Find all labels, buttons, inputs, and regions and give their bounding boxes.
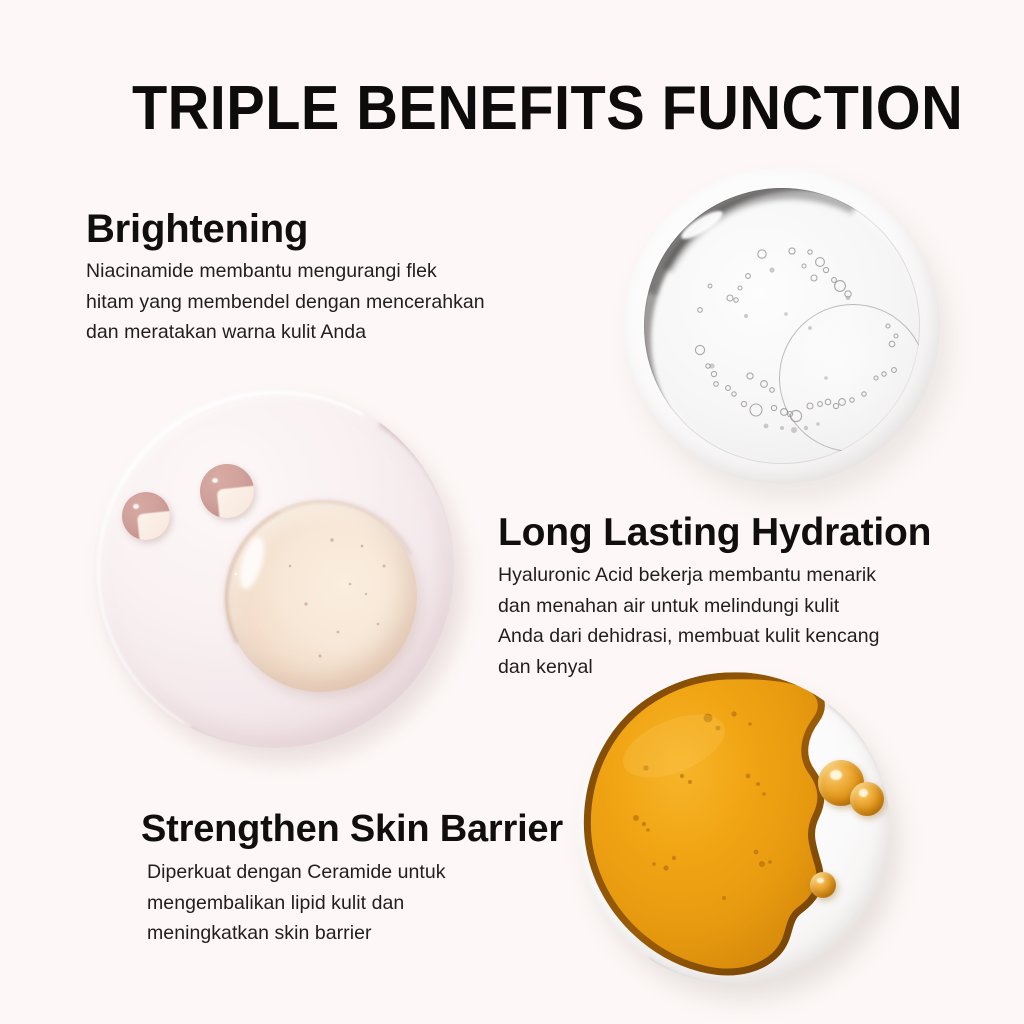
- benefit-heading-brightening: Brightening: [86, 206, 485, 252]
- benefit-block-hydration: Long Lasting Hydration Hyaluronic Acid b…: [498, 510, 931, 682]
- body-line: Hyaluronic Acid bekerja membantu menarik: [498, 560, 931, 591]
- body-line: dan menahan air untuk melindungi kulit: [498, 591, 931, 622]
- droplet-specular-highlight: [133, 504, 139, 509]
- body-line: dan meratakan warna kulit Anda: [86, 317, 485, 348]
- clear-gel-swatch: [624, 168, 940, 484]
- benefit-body-barrier: Diperkuat dengan Ceramide untuk mengemba…: [147, 857, 563, 949]
- body-line: Diperkuat dengan Ceramide untuk: [147, 857, 563, 888]
- oil-droplet-medium: [850, 782, 884, 816]
- petri-dish-inner-clear: [644, 188, 920, 464]
- petri-dish-oil: [578, 672, 890, 984]
- pink-serum-specks-layer: [94, 388, 454, 748]
- poster-canvas: TRIPLE BENEFITS FUNCTION: [0, 0, 1024, 1024]
- droplet-refraction-wedge: [217, 484, 254, 518]
- droplet-refraction-wedge: [137, 510, 170, 540]
- body-line: mengembalikan lipid kulit dan: [147, 888, 563, 919]
- benefit-body-brightening: Niacinamide membantu mengurangi flek hit…: [86, 256, 485, 348]
- body-line: meningkatkan skin barrier: [147, 918, 563, 949]
- rose-droplet-small-1: [122, 492, 170, 540]
- pink-serum-swatch: [94, 388, 454, 748]
- petri-dish-pink: [94, 388, 454, 748]
- amber-oil-swatch: [578, 672, 890, 984]
- benefit-heading-hydration: Long Lasting Hydration: [498, 510, 931, 556]
- oil-droplet-small: [810, 872, 836, 898]
- benefit-block-barrier: Strengthen Skin Barrier Diperkuat dengan…: [141, 806, 563, 949]
- oil-blob-clip: [578, 672, 890, 984]
- oil-blob-shape: [578, 672, 890, 984]
- rose-droplet-small-2: [200, 464, 254, 518]
- body-line: dan kenyal: [498, 652, 931, 683]
- droplet-specular-highlight: [859, 789, 868, 796]
- droplet-specular-highlight: [830, 770, 842, 780]
- droplet-specular-highlight: [817, 878, 824, 884]
- body-line: Anda dari dehidrasi, membuat kulit kenca…: [498, 621, 931, 652]
- benefit-block-brightening: Brightening Niacinamide membantu mengura…: [86, 206, 485, 348]
- droplet-specular-highlight: [212, 478, 218, 483]
- benefit-heading-barrier: Strengthen Skin Barrier: [141, 806, 563, 852]
- gel-bubbles-layer: [644, 188, 920, 464]
- benefit-body-hydration: Hyaluronic Acid bekerja membantu menarik…: [498, 560, 931, 682]
- page-title: TRIPLE BENEFITS FUNCTION: [132, 78, 876, 140]
- body-line: hitam yang membendel dengan mencerahkan: [86, 287, 485, 318]
- body-line: Niacinamide membantu mengurangi flek: [86, 256, 485, 287]
